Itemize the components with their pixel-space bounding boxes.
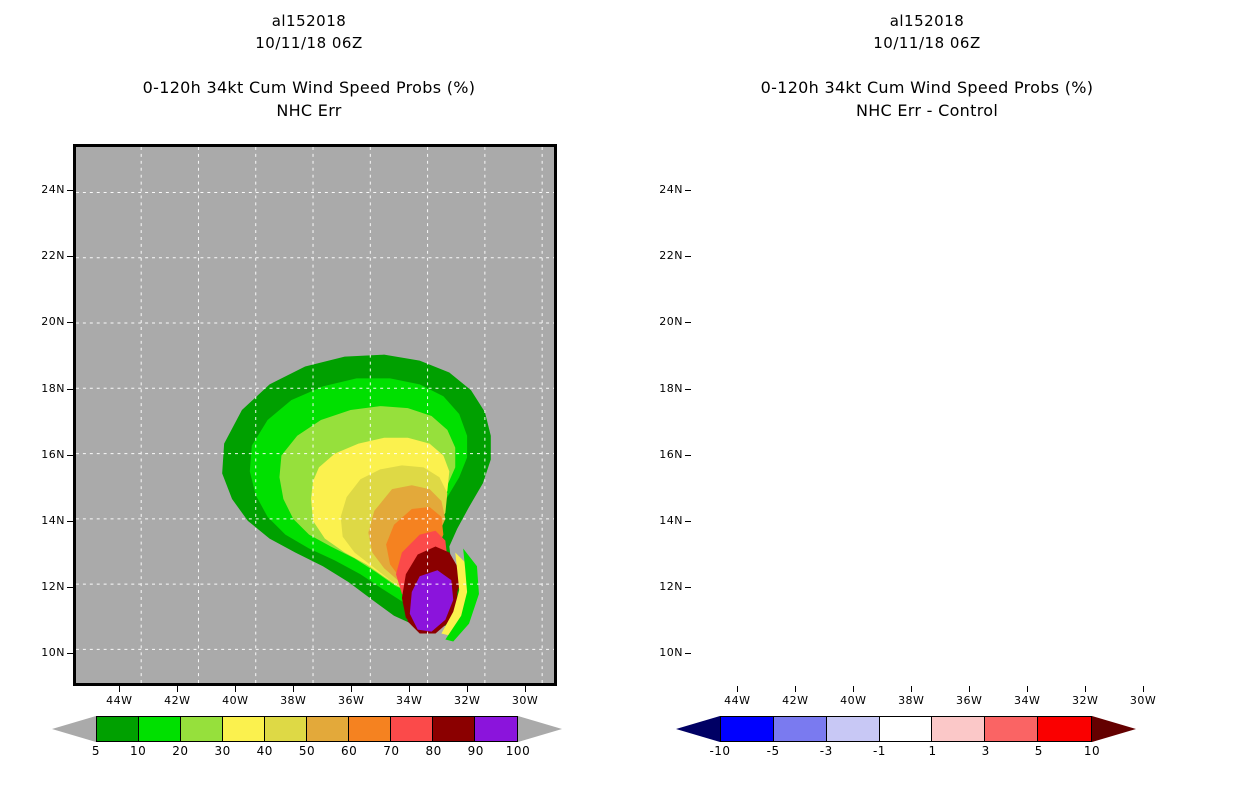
- colorbar-swatch-4: [265, 717, 307, 741]
- y-axis-label-16N: 16N: [643, 448, 683, 461]
- y-axis-label-10N: 10N: [643, 646, 683, 659]
- x-axis-label-40W: 40W: [833, 694, 873, 707]
- colorbar-swatch-5: [307, 717, 349, 741]
- y-axis-tick: [67, 587, 73, 588]
- wind-probability-figure: al152018 10/11/18 06Z 0-120h 34kt Cum Wi…: [0, 0, 1236, 800]
- x-axis-label-32W: 32W: [1065, 694, 1105, 707]
- colorbar-tick-diff--10: -10: [700, 744, 740, 758]
- y-axis-tick: [685, 389, 691, 390]
- colorbar-body: [96, 716, 518, 742]
- x-axis-label-38W: 38W: [891, 694, 931, 707]
- x-axis-label-32W: 32W: [447, 694, 487, 707]
- colorbar-tick-prob-60: 60: [329, 744, 369, 758]
- y-axis-label-14N: 14N: [643, 514, 683, 527]
- y-axis-tick: [685, 521, 691, 522]
- storm-datetime: 10/11/18 06Z: [618, 33, 1236, 54]
- y-axis-label-22N: 22N: [643, 249, 683, 262]
- colorbar-tick-diff--3: -3: [806, 744, 846, 758]
- panel-nhc-err-minus-control: al152018 10/11/18 06Z 0-120h 34kt Cum Wi…: [618, 0, 1236, 800]
- x-axis-label-42W: 42W: [157, 694, 197, 707]
- map-plot-area-left: [73, 144, 557, 686]
- x-axis-tick: [409, 686, 410, 692]
- panel-title: 0-120h 34kt Cum Wind Speed Probs (%): [618, 76, 1236, 99]
- x-axis-tick: [525, 686, 526, 692]
- colorbar-body: [720, 716, 1092, 742]
- x-axis-tick: [119, 686, 120, 692]
- x-axis-tick: [795, 686, 796, 692]
- colorbar-low-arrow: [52, 716, 96, 742]
- y-axis-tick: [67, 653, 73, 654]
- y-axis-tick: [67, 389, 73, 390]
- colorbar-tick-diff-3: 3: [966, 744, 1006, 758]
- x-axis-tick: [737, 686, 738, 692]
- y-axis-label-24N: 24N: [25, 183, 65, 196]
- colorbar-swatch-4: [932, 717, 985, 741]
- colorbar-swatch-0: [721, 717, 774, 741]
- x-axis-tick: [467, 686, 468, 692]
- colorbar-tick-prob-40: 40: [245, 744, 285, 758]
- y-axis-label-10N: 10N: [25, 646, 65, 659]
- x-axis-label-36W: 36W: [949, 694, 989, 707]
- x-axis-label-44W: 44W: [717, 694, 757, 707]
- x-axis-tick: [235, 686, 236, 692]
- x-axis-label-44W: 44W: [99, 694, 139, 707]
- colorbar-high-arrow: [518, 716, 562, 742]
- x-axis-tick: [911, 686, 912, 692]
- x-axis-label-42W: 42W: [775, 694, 815, 707]
- panel-subtitle: NHC Err - Control: [618, 99, 1236, 122]
- colorbar-tick-prob-80: 80: [414, 744, 454, 758]
- x-axis-tick: [177, 686, 178, 692]
- panel-right-titles: al152018 10/11/18 06Z 0-120h 34kt Cum Wi…: [618, 0, 1236, 122]
- colorbar-high-arrow: [1092, 716, 1136, 742]
- colorbar-swatch-3: [880, 717, 933, 741]
- y-axis-label-20N: 20N: [643, 315, 683, 328]
- y-axis-tick: [685, 322, 691, 323]
- x-axis-tick: [969, 686, 970, 692]
- x-axis-tick: [1143, 686, 1144, 692]
- y-axis-tick: [67, 322, 73, 323]
- x-axis-label-40W: 40W: [215, 694, 255, 707]
- colorbar-low-arrow: [676, 716, 720, 742]
- colorbar-difference[interactable]: -10-5-3-113510: [676, 716, 1136, 742]
- storm-id: al152018: [618, 11, 1236, 32]
- panel-nhc-err: al152018 10/11/18 06Z 0-120h 34kt Cum Wi…: [0, 0, 618, 800]
- panel-title: 0-120h 34kt Cum Wind Speed Probs (%): [0, 76, 618, 99]
- colorbar-tick-diff--1: -1: [859, 744, 899, 758]
- x-axis-tick: [1027, 686, 1028, 692]
- y-axis-label-18N: 18N: [643, 382, 683, 395]
- colorbar-swatch-7: [391, 717, 433, 741]
- colorbar-tick-diff-10: 10: [1072, 744, 1112, 758]
- storm-id: al152018: [0, 11, 618, 32]
- colorbar-tick-prob-30: 30: [203, 744, 243, 758]
- y-axis-tick: [685, 653, 691, 654]
- colorbar-tick-diff-1: 1: [913, 744, 953, 758]
- y-axis-label-16N: 16N: [25, 448, 65, 461]
- y-axis-tick: [685, 455, 691, 456]
- y-axis-label-24N: 24N: [643, 183, 683, 196]
- colorbar-swatch-1: [774, 717, 827, 741]
- y-axis-tick: [67, 256, 73, 257]
- colorbar-tick-prob-5: 5: [76, 744, 116, 758]
- colorbar-tick-diff-5: 5: [1019, 744, 1059, 758]
- y-axis-label-18N: 18N: [25, 382, 65, 395]
- storm-datetime: 10/11/18 06Z: [0, 33, 618, 54]
- y-axis-tick: [685, 256, 691, 257]
- colorbar-tick-prob-50: 50: [287, 744, 327, 758]
- colorbar-tick-diff--5: -5: [753, 744, 793, 758]
- colorbar-swatch-1: [139, 717, 181, 741]
- y-axis-tick: [67, 190, 73, 191]
- colorbar-probability[interactable]: 5102030405060708090100: [52, 716, 562, 742]
- y-axis-tick: [685, 190, 691, 191]
- x-axis-tick: [351, 686, 352, 692]
- x-axis-label-34W: 34W: [1007, 694, 1047, 707]
- colorbar-tick-prob-90: 90: [456, 744, 496, 758]
- x-axis-tick: [293, 686, 294, 692]
- x-axis-label-30W: 30W: [1123, 694, 1163, 707]
- colorbar-tick-prob-20: 20: [160, 744, 200, 758]
- colorbar-swatch-8: [433, 717, 475, 741]
- x-axis-label-36W: 36W: [331, 694, 371, 707]
- colorbar-swatch-6: [349, 717, 391, 741]
- colorbar-swatch-5: [985, 717, 1038, 741]
- y-axis-label-22N: 22N: [25, 249, 65, 262]
- y-axis-label-14N: 14N: [25, 514, 65, 527]
- colorbar-swatch-0: [97, 717, 139, 741]
- contour-field-nhc-err: [76, 147, 554, 683]
- colorbar-swatch-2: [827, 717, 880, 741]
- y-axis-label-12N: 12N: [643, 580, 683, 593]
- x-axis-tick: [1085, 686, 1086, 692]
- colorbar-swatch-3: [223, 717, 265, 741]
- y-axis-tick: [685, 587, 691, 588]
- panel-subtitle: NHC Err: [0, 99, 618, 122]
- y-axis-label-20N: 20N: [25, 315, 65, 328]
- x-axis-tick: [853, 686, 854, 692]
- y-axis-tick: [67, 455, 73, 456]
- x-axis-label-30W: 30W: [505, 694, 545, 707]
- y-axis-label-12N: 12N: [25, 580, 65, 593]
- colorbar-tick-prob-100: 100: [498, 744, 538, 758]
- colorbar-swatch-9: [475, 717, 517, 741]
- y-axis-tick: [67, 521, 73, 522]
- colorbar-tick-prob-10: 10: [118, 744, 158, 758]
- x-axis-label-38W: 38W: [273, 694, 313, 707]
- colorbar-swatch-2: [181, 717, 223, 741]
- colorbar-tick-prob-70: 70: [371, 744, 411, 758]
- panel-left-titles: al152018 10/11/18 06Z 0-120h 34kt Cum Wi…: [0, 0, 618, 122]
- x-axis-label-34W: 34W: [389, 694, 429, 707]
- colorbar-swatch-6: [1038, 717, 1091, 741]
